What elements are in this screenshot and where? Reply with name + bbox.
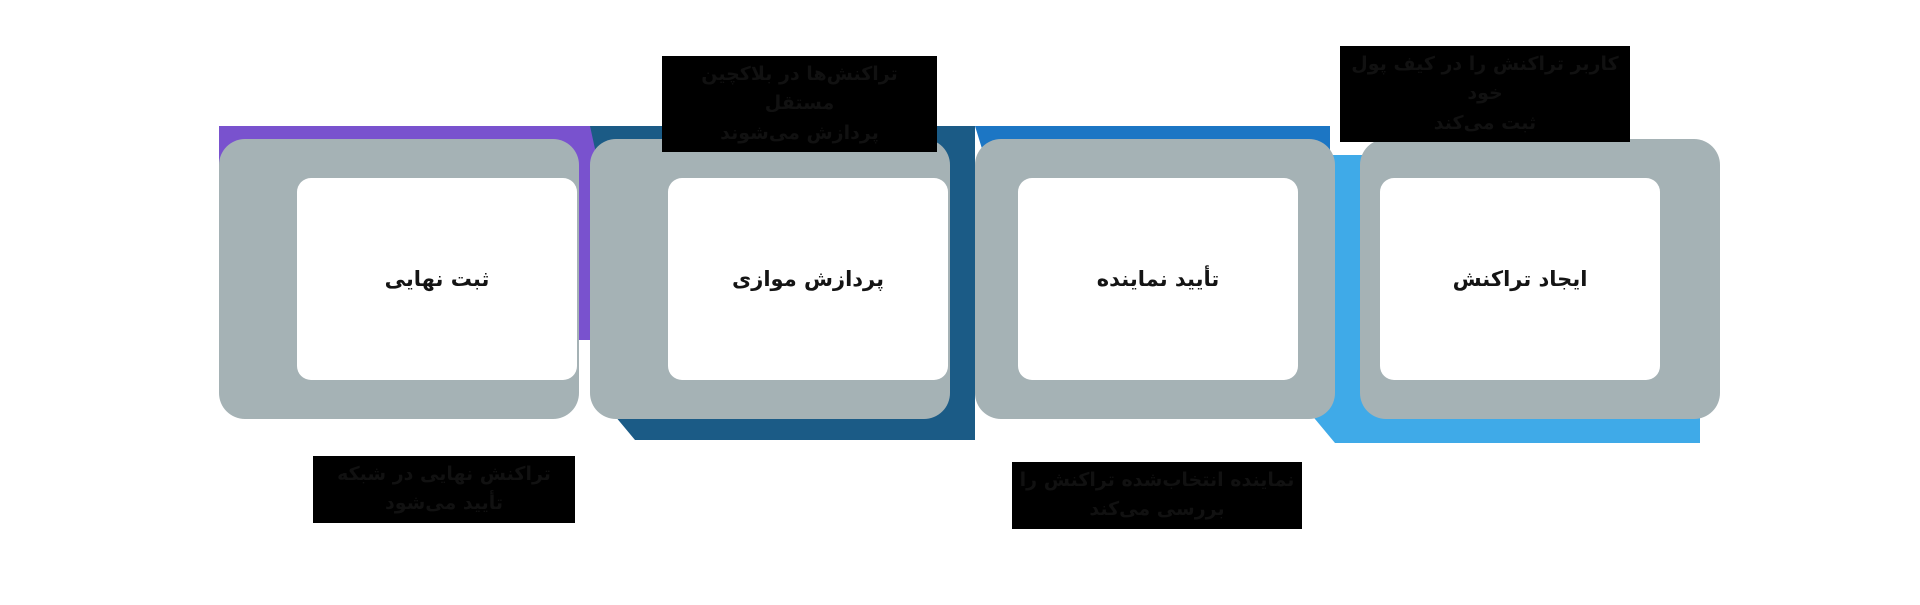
callout-top-right: کاربر تراکنش را در کیف پول خود ثبت می‌کن… <box>1340 46 1630 142</box>
step-card-step-1[interactable]: ایجاد تراکنش <box>1380 178 1660 380</box>
callout-top-center-line1: تراکنش‌ها در بلاکچین مستقل <box>668 60 931 119</box>
step-card-step-2[interactable]: تأیید نماینده <box>1018 178 1298 380</box>
step-card-step-3[interactable]: پردازش موازی <box>668 178 948 380</box>
step-label-step-4: ثبت نهایی <box>385 265 490 293</box>
callout-top-center: تراکنش‌ها در بلاکچین مستقل پردازش می‌شون… <box>662 56 937 152</box>
callout-bottom-left: تراکنش نهایی در شبکه تأیید می‌شود <box>313 456 575 523</box>
callout-top-right-line1: کاربر تراکنش را در کیف پول خود <box>1346 50 1624 109</box>
callout-bottom-center-line2: بررسی می‌کند <box>1018 495 1296 524</box>
step-label-step-1: ایجاد تراکنش <box>1453 265 1588 293</box>
step-card-step-4[interactable]: ثبت نهایی <box>297 178 577 380</box>
callout-bottom-center: نماینده انتخاب‌شده تراکنش را بررسی می‌کن… <box>1012 462 1302 529</box>
diagram-canvas: ثبت نهایی پردازش موازی تأیید نماینده ایج… <box>0 0 1920 605</box>
callout-bottom-left-line2: تأیید می‌شود <box>319 489 569 518</box>
callout-top-center-line2: پردازش می‌شوند <box>668 119 931 148</box>
callout-bottom-left-line1: تراکنش نهایی در شبکه <box>319 460 569 489</box>
step-label-step-3: پردازش موازی <box>732 265 884 293</box>
callout-top-right-line2: ثبت می‌کند <box>1346 109 1624 138</box>
callout-bottom-center-line1: نماینده انتخاب‌شده تراکنش را <box>1018 466 1296 495</box>
step-label-step-2: تأیید نماینده <box>1097 265 1220 293</box>
